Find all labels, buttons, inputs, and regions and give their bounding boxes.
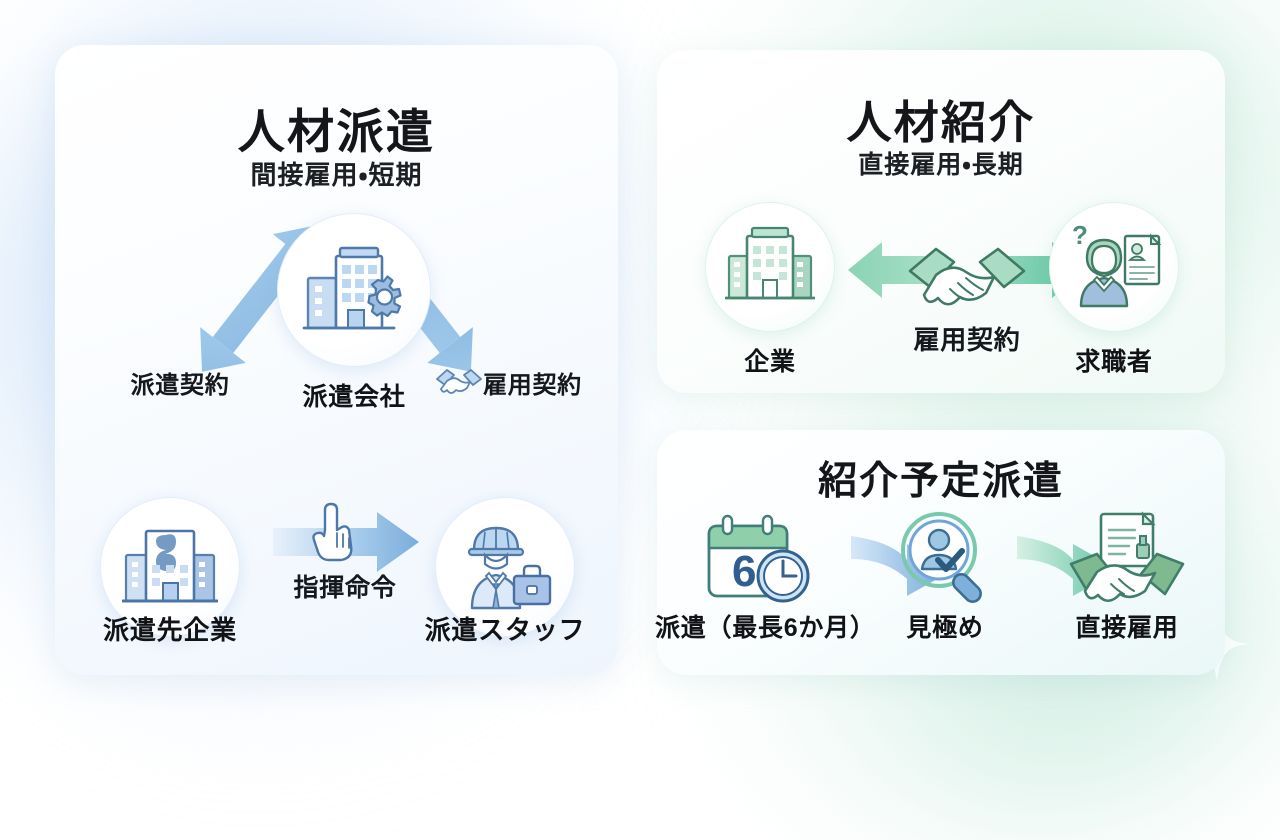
magnifier-person-check-icon [897,510,993,606]
calendar-6-clock-icon: 6 [699,510,819,606]
handshake-contract-icon [1067,510,1187,606]
node-dispatch-staff-label: 派遣スタッフ [410,610,600,647]
step-evaluate[interactable] [875,508,1015,608]
card2-title: 人材紹介 [657,86,1225,151]
step-evaluate-label: 見極め [870,608,1020,644]
relation-employment-contract-label-2: 雇用契約 [872,320,1062,357]
pointing-hand-icon [308,500,356,562]
card3-title: 紹介予定派遣 [657,450,1225,506]
person-resume-icon: ? [1067,222,1161,312]
card-jinzai-haken: 人材派遣 間接雇用・短期 [55,45,618,675]
step-direct-hire[interactable] [1047,508,1207,608]
relation-employment-contract-label: 雇用契約 [483,365,623,400]
node-agency-label: 派遣会社 [277,377,431,413]
calendar-number: 6 [732,547,756,596]
card-shokai-yotei-haken: 紹介予定派遣 6 派遣（最長6か月） [657,430,1225,675]
node-company[interactable] [705,202,835,332]
svg-text:?: ? [1072,222,1088,250]
infographic-canvas: 人材派遣 間接雇用・短期 [0,0,1280,720]
node-company-label: 企業 [705,342,835,378]
step-direct-hire-label: 直接雇用 [1042,608,1212,644]
node-jobseeker-label: 求職者 [1049,342,1179,378]
node-agency[interactable] [277,213,431,367]
node-client-company-label: 派遣先企業 [75,610,265,647]
relation-command-label: 指揮命令 [255,568,435,604]
card2-subtitle: 直接雇用・長期 [657,145,1225,181]
step-dispatch[interactable]: 6 [675,508,843,608]
building-client-icon [122,521,218,613]
node-jobseeker[interactable]: ? [1049,202,1179,332]
card-jinzai-shokai: 人材紹介 直接雇用・長期 企業 [657,50,1225,393]
building-gear-icon [302,240,406,340]
building-green-icon [725,224,815,310]
worker-briefcase-icon [456,520,554,614]
step-dispatch-label: 派遣（最長6か月） [655,608,865,644]
handshake-icon [433,363,485,397]
handshake-icon [902,235,1032,311]
relation-dispatch-contract-label: 派遣契約 [105,365,255,400]
